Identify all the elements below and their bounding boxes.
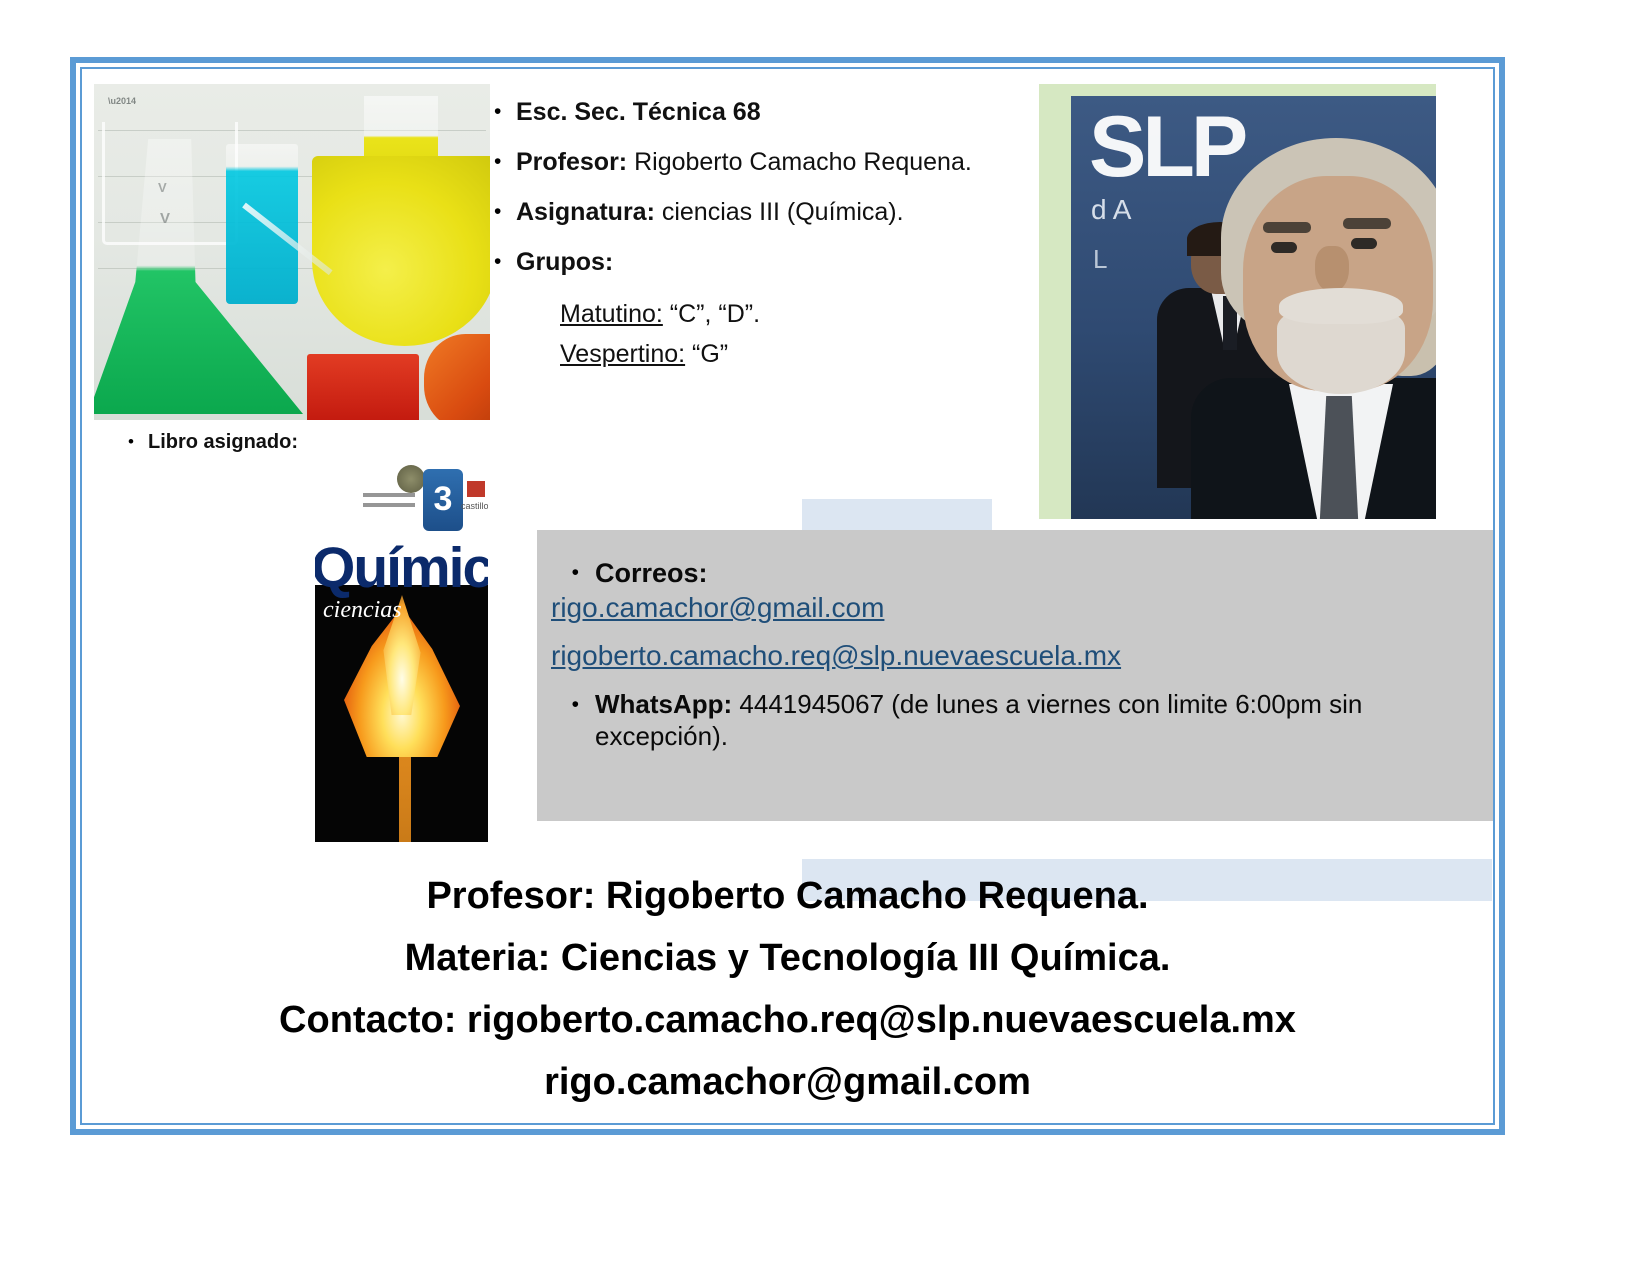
professor-eye-right: [1351, 238, 1377, 249]
group-matutino: Matutino: “C”, “D”.: [560, 297, 1034, 331]
assigned-book-row: • Libro asignado:: [92, 429, 298, 455]
red-beaker: [307, 354, 419, 420]
bullet-dot-icon: •: [92, 429, 148, 455]
email-link-institutional[interactable]: rigoberto.camacho.req@slp.nuevaescuela.m…: [551, 638, 1493, 674]
bullet-school: • Esc. Sec. Técnica 68: [494, 97, 1034, 127]
bottom-line-subject: Materia: Ciencias y Tecnología III Quími…: [96, 937, 1479, 979]
slide-frame-inner-border: V V VIIB Mn Fe Tc \u2014 SLP d A L: [80, 67, 1495, 1125]
bottom-line-professor: Profesor: Rigoberto Camacho Requena.: [96, 875, 1479, 917]
bullet-dot-icon: •: [494, 197, 516, 227]
group-vespertino: Vespertino: “G”: [560, 337, 1034, 371]
slide-frame: V V VIIB Mn Fe Tc \u2014 SLP d A L: [70, 57, 1505, 1135]
professor-brow-left: [1263, 222, 1311, 233]
email-list: rigo.camachor@gmail.com rigoberto.camach…: [537, 590, 1493, 674]
publisher-logo-icon: [467, 481, 485, 497]
book-title: Química: [315, 535, 488, 601]
assigned-book-label: Libro asignado:: [148, 429, 298, 455]
matutino-value: “C”, “D”.: [663, 300, 760, 328]
photo-backdrop: SLP d A L: [1071, 96, 1436, 519]
contact-info-box: • Correos: rigo.camachor@gmail.com rigob…: [537, 530, 1493, 821]
matutino-label: Matutino:: [560, 300, 663, 328]
professor-label: Profesor:: [516, 148, 627, 176]
whatsapp-row: • WhatsApp: 4441945067 (de lunes a viern…: [537, 688, 1493, 752]
backdrop-line3: L: [1093, 244, 1107, 275]
bullet-dot-icon: •: [494, 147, 516, 177]
subject-label: Asignatura:: [516, 198, 655, 226]
professor-moustache: [1279, 288, 1403, 324]
professor-value: Rigoberto Camacho Requena.: [627, 148, 972, 176]
bottom-line-email: rigo.camachor@gmail.com: [96, 1061, 1479, 1103]
professor-brow-right: [1343, 218, 1391, 229]
bullet-groups: • Grupos:: [494, 247, 1034, 277]
info-bullet-list: • Esc. Sec. Técnica 68 • Profesor: Rigob…: [494, 97, 1034, 371]
cyan-cylinder: [226, 144, 298, 304]
vespertino-label: Vespertino:: [560, 340, 685, 368]
chemistry-lab-photo: V V VIIB Mn Fe Tc \u2014: [94, 84, 490, 420]
yellow-flask: [312, 156, 490, 346]
backdrop-slp-text: SLP: [1089, 98, 1244, 197]
backdrop-line2: d A: [1091, 194, 1131, 226]
book-subtitle: ciencias: [323, 597, 402, 624]
bullet-dot-icon: •: [537, 556, 595, 590]
groups-label: Grupos:: [516, 248, 613, 276]
bullet-subject: • Asignatura: ciencias III (Química).: [494, 197, 1034, 227]
publisher-name: castillo: [461, 501, 488, 511]
slide-canvas: V V VIIB Mn Fe Tc \u2014 SLP d A L: [82, 69, 1493, 1123]
professor-nose: [1315, 246, 1349, 292]
bullet-professor: • Profesor: Rigoberto Camacho Requena.: [494, 147, 1034, 177]
bullet-dot-icon: •: [537, 688, 595, 722]
bullet-dot-icon: •: [494, 247, 516, 277]
whatsapp-label: WhatsApp:: [595, 689, 732, 719]
vespertino-value: “G”: [685, 340, 728, 368]
sep-text-line-2: [363, 503, 415, 507]
grade-badge: 3: [423, 469, 463, 531]
bottom-line-contact: Contacto: rigoberto.camacho.req@slp.nuev…: [96, 999, 1479, 1041]
bottom-summary-block: Profesor: Rigoberto Camacho Requena. Mat…: [96, 859, 1479, 1123]
subject-value: ciencias III (Química).: [655, 198, 904, 226]
book-cover-image: 3 castillo Química ciencias: [315, 457, 488, 842]
professor-photo: SLP d A L: [1039, 84, 1436, 519]
bullet-dot-icon: •: [494, 97, 516, 127]
correos-row: • Correos:: [537, 556, 1493, 590]
email-link-gmail[interactable]: rigo.camachor@gmail.com: [551, 590, 1493, 626]
professor-eye-left: [1271, 242, 1297, 253]
sep-seal-icon: [397, 465, 425, 493]
sep-text-line-1: [363, 493, 415, 497]
correos-label: Correos:: [595, 556, 708, 590]
school-label: Esc. Sec. Técnica 68: [516, 98, 761, 126]
